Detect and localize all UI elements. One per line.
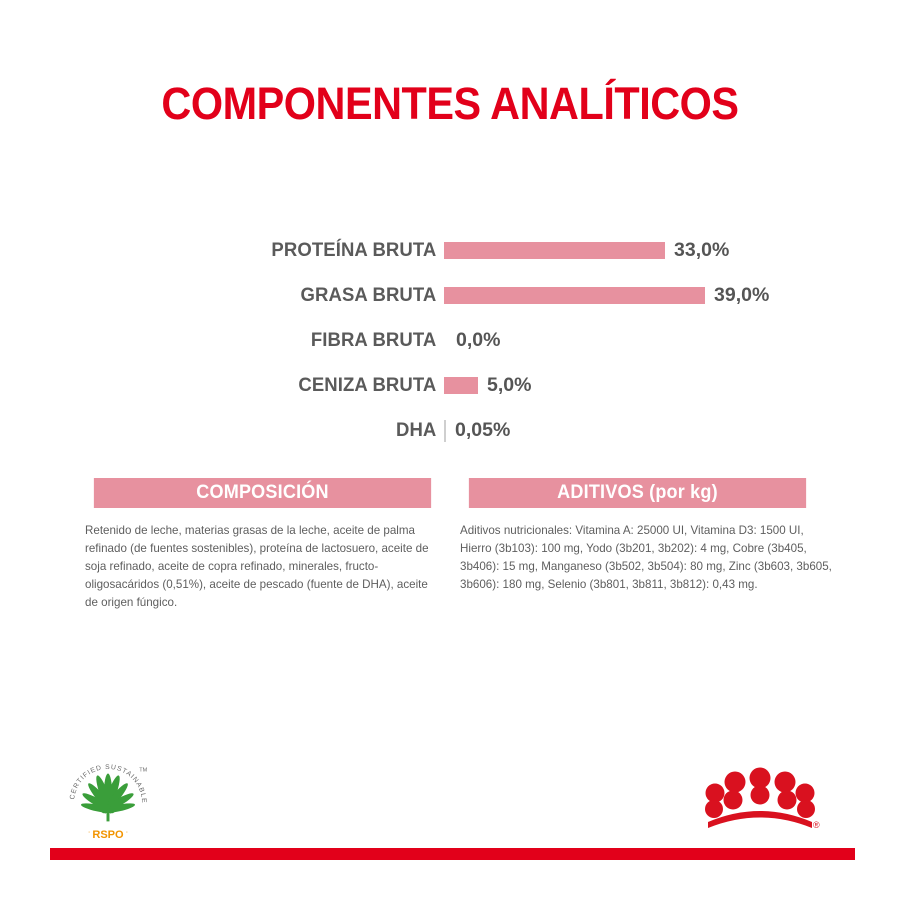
chart-row: DHA 0,05% [0, 408, 900, 453]
chart-row-label: PROTEÍNA BRUTA [22, 239, 444, 262]
additives-heading: ADITIVOS (por kg) [469, 478, 806, 508]
chart-row-label: CENIZA BRUTA [22, 374, 444, 397]
page-title: COMPONENTES ANALÍTICOS [36, 78, 864, 130]
composition-panel: COMPOSICIÓN Retenido de leche, materias … [85, 478, 440, 612]
product-info-panel: COMPONENTES ANALÍTICOS PROTEÍNA BRUTA 33… [0, 0, 900, 900]
chart-bar [444, 242, 665, 259]
chart-row: FIBRA BRUTA 0,0% [0, 318, 900, 363]
info-panels: COMPOSICIÓN Retenido de leche, materias … [85, 478, 825, 612]
chart-track: 33,0% [444, 228, 900, 273]
svg-text:·: · [125, 827, 128, 836]
chart-row-value: 5,0% [487, 374, 531, 397]
rspo-wordmark: RSPO [92, 829, 124, 841]
chart-row-label: DHA [22, 419, 444, 442]
chart-bar [444, 287, 705, 304]
analytical-constituents-chart: PROTEÍNA BRUTA 33,0% GRASA BRUTA 39,0% F… [0, 228, 900, 453]
chart-track: 5,0% [444, 363, 900, 408]
composition-heading: COMPOSICIÓN [94, 478, 431, 508]
chart-track: 39,0% [444, 273, 900, 318]
chart-track: 0,0% [444, 318, 900, 363]
registered-trademark-mark: ® [813, 820, 820, 830]
chart-row-value: 39,0% [714, 284, 769, 307]
chart-row: PROTEÍNA BRUTA 33,0% [0, 228, 900, 273]
rspo-tm-mark: TM [139, 768, 147, 774]
chart-row: GRASA BRUTA 39,0% [0, 273, 900, 318]
chart-track: 0,05% [444, 408, 900, 453]
chart-row: CENIZA BRUTA 5,0% [0, 363, 900, 408]
additives-panel: ADITIVOS (por kg) Aditivos nutricionales… [460, 478, 815, 612]
royal-canin-crown-icon: ® [700, 762, 820, 834]
chart-row-value: 0,05% [455, 419, 510, 442]
svg-text:·: · [88, 827, 91, 836]
chart-row-label: GRASA BRUTA [22, 284, 444, 307]
chart-row-value: 33,0% [674, 239, 729, 262]
additives-body: Aditivos nutricionales: Vitamina A: 2500… [460, 522, 832, 594]
rspo-certification-icon: CERTIFIED SUSTAINABLE PALM OIL RSPO · · … [62, 757, 154, 849]
chart-bar [444, 377, 478, 394]
composition-body: Retenido de leche, materias grasas de la… [85, 522, 440, 612]
chart-row-label: FIBRA BRUTA [22, 329, 444, 352]
chart-zero-tick [444, 420, 446, 442]
chart-row-value: 0,0% [456, 329, 500, 352]
footer-red-rule [50, 848, 855, 860]
